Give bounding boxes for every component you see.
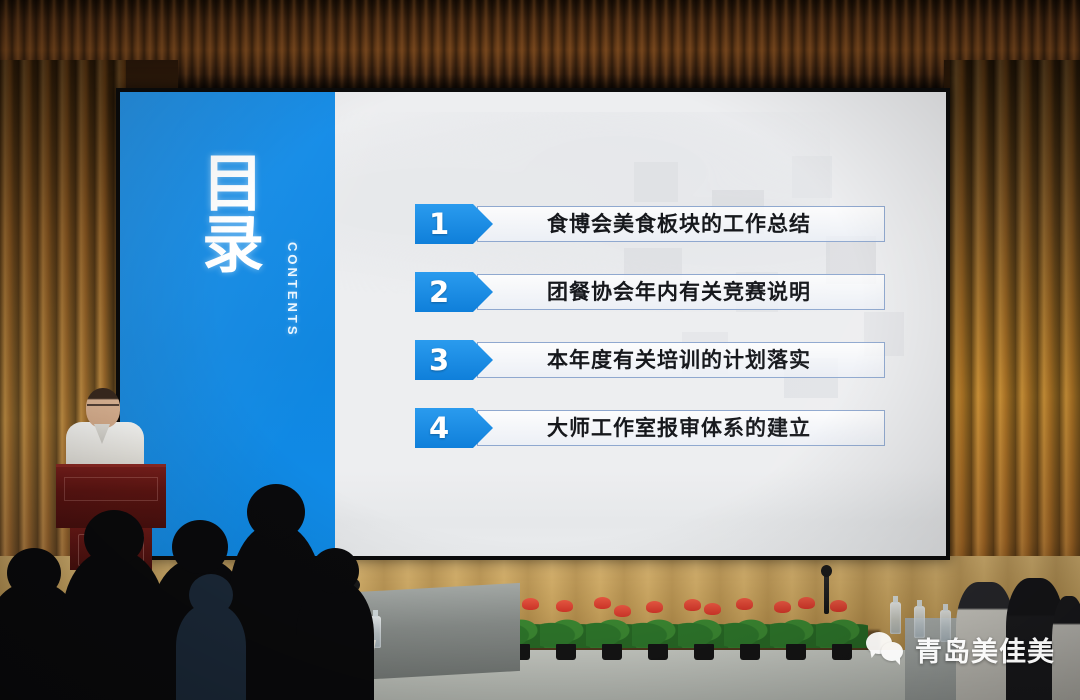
speaker-glasses bbox=[87, 404, 119, 409]
water-bottle bbox=[890, 602, 901, 634]
presentation-slide: 目 录 CONTENTS 1 食博会美食板块的工作总结 2 bbox=[120, 92, 946, 556]
contents-number: 2 bbox=[429, 275, 449, 309]
slide-title-en: CONTENTS bbox=[285, 242, 300, 338]
contents-row: 4 大师工作室报审体系的建立 bbox=[415, 408, 885, 448]
contents-list: 1 食博会美食板块的工作总结 2 团餐协会年内有关竞赛说明 3 本 bbox=[415, 204, 885, 476]
contents-number: 3 bbox=[429, 343, 449, 377]
contents-row: 1 食博会美食板块的工作总结 bbox=[415, 204, 885, 244]
speaker-at-podium bbox=[56, 388, 166, 528]
contents-row-text: 食博会美食板块的工作总结 bbox=[547, 208, 811, 238]
conference-hall-scene: 目 录 CONTENTS 1 食博会美食板块的工作总结 2 bbox=[0, 0, 1080, 700]
contents-number: 1 bbox=[429, 207, 449, 241]
attendee-right bbox=[1052, 596, 1080, 700]
slide-title-char-2: 录 bbox=[202, 215, 266, 276]
anthurium-plant bbox=[814, 596, 870, 660]
slide-title-cn: 目 录 bbox=[202, 154, 266, 276]
audience-silhouette bbox=[296, 580, 374, 700]
contents-row: 2 团餐协会年内有关竞赛说明 bbox=[415, 272, 885, 312]
slide-title-char-1: 目 bbox=[202, 154, 266, 215]
audience-silhouette bbox=[176, 604, 246, 700]
stage-curtain-right bbox=[950, 60, 1080, 620]
contents-number: 4 bbox=[429, 411, 449, 445]
contents-row: 3 本年度有关培训的计划落实 bbox=[415, 340, 885, 380]
water-bottle bbox=[914, 606, 925, 638]
water-bottle bbox=[940, 610, 951, 642]
contents-row-text: 大师工作室报审体系的建立 bbox=[547, 412, 811, 442]
microphone bbox=[824, 574, 829, 614]
projection-screen: 目 录 CONTENTS 1 食博会美食板块的工作总结 2 bbox=[116, 88, 950, 560]
contents-row-text: 团餐协会年内有关竞赛说明 bbox=[547, 276, 811, 306]
contents-row-text: 本年度有关培训的计划落实 bbox=[547, 344, 811, 374]
